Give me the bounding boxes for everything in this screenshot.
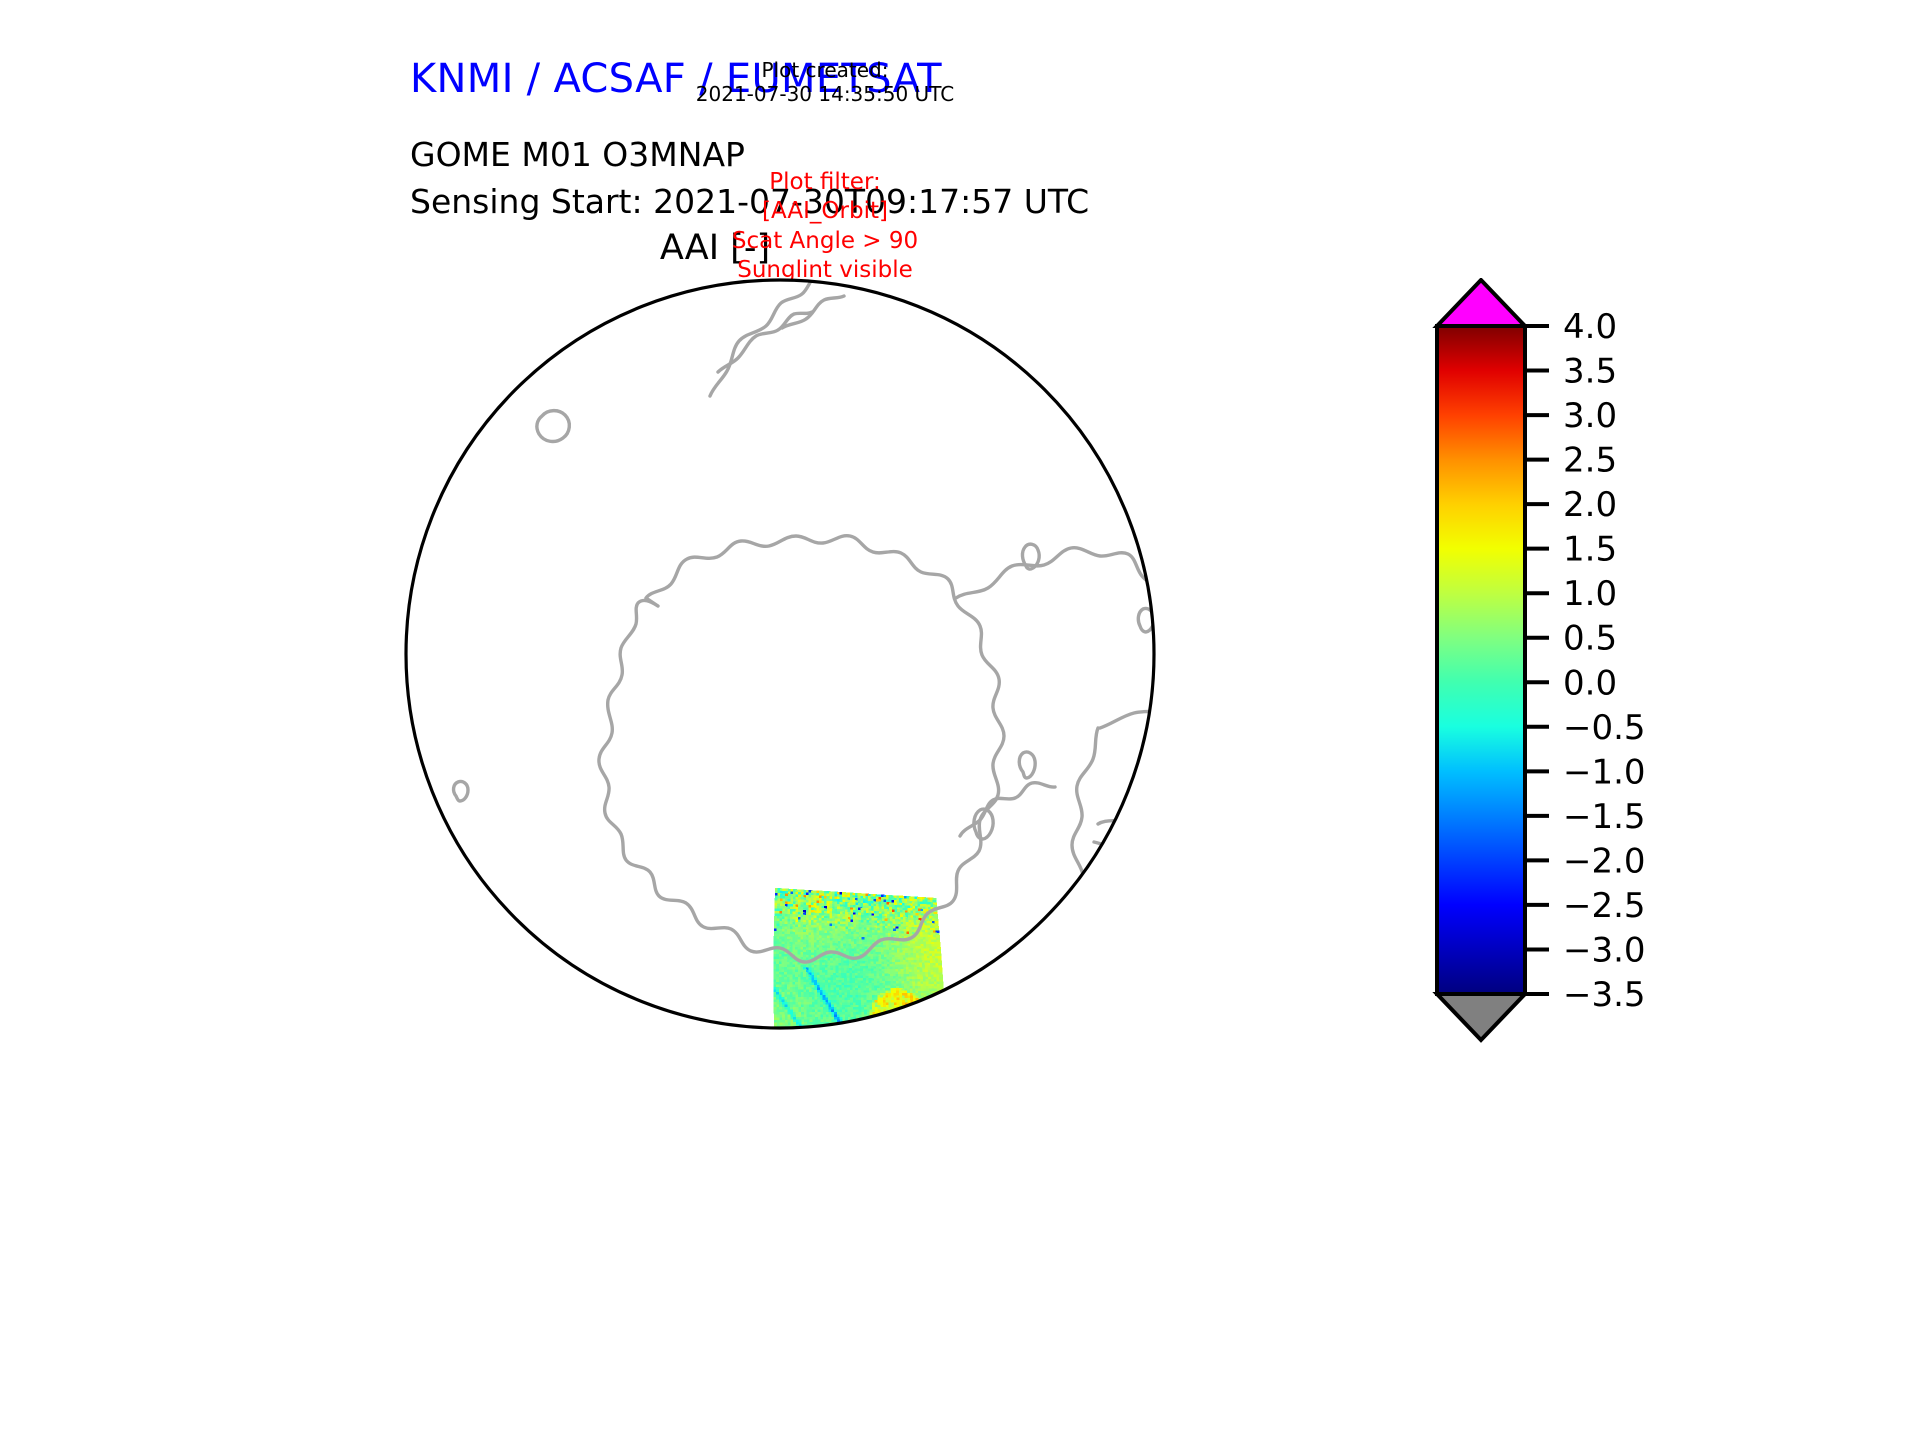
swath-pixel <box>860 1061 864 1065</box>
swath-pixel <box>865 1053 869 1057</box>
swath-pixel <box>903 1017 907 1021</box>
swath-pixel <box>835 1042 839 1046</box>
swath-pixel <box>941 1012 945 1016</box>
swath-pixel <box>813 1052 817 1056</box>
swath-pixel <box>849 1051 853 1055</box>
swath-pixel <box>907 1057 911 1061</box>
swath-pixel <box>920 1033 924 1037</box>
swath-pixel <box>846 1044 850 1048</box>
swath-pixel <box>893 1057 897 1061</box>
swath-pixel <box>810 1045 814 1049</box>
swath-pixel <box>919 1019 923 1023</box>
swath-pixel <box>920 1050 924 1053</box>
swath-pixel <box>928 1057 932 1060</box>
swath-pixel <box>840 1034 844 1038</box>
swath-pixel <box>936 1047 940 1050</box>
swath-pixel <box>819 1057 823 1061</box>
swath-pixel <box>931 1056 935 1059</box>
swath-pixel <box>838 1044 842 1048</box>
swath-pixel <box>851 1024 855 1028</box>
swath-pixel <box>901 1064 905 1066</box>
swath-pixel <box>920 1064 924 1066</box>
swath-pixel <box>871 1065 875 1066</box>
swath-pixel <box>912 1040 916 1044</box>
swath-pixel <box>865 1039 869 1043</box>
swath-pixel <box>821 1027 825 1031</box>
swath-pixel <box>824 1034 828 1038</box>
swath-pixel <box>776 1060 780 1064</box>
swath-pixel <box>825 1064 829 1066</box>
swath-pixel <box>936 1040 940 1043</box>
swath-pixel <box>914 1040 918 1044</box>
plot-filter-block: Plot filter: [AAI_Orbit] Scat Angle > 90… <box>660 168 990 286</box>
swath-pixel <box>795 1057 799 1061</box>
swath-pixel <box>851 1041 855 1045</box>
swath-pixel <box>887 1026 891 1030</box>
swath-pixel <box>813 1049 817 1053</box>
swath-pixel <box>791 1040 795 1044</box>
swath-pixel <box>862 1036 866 1040</box>
swath-pixel <box>939 1045 943 1048</box>
swath-pixel <box>927 1014 931 1018</box>
swath-pixel <box>867 1019 871 1023</box>
swath-pixel <box>928 1028 932 1032</box>
swath-pixel <box>869 1065 873 1066</box>
swath-pixel <box>898 1045 902 1049</box>
swath-pixel <box>802 1047 806 1051</box>
swath-pixel <box>871 1048 875 1052</box>
swath-pixel <box>786 1050 790 1054</box>
swath-pixel <box>942 1061 946 1064</box>
swath-pixel <box>890 1053 894 1057</box>
swath-pixel <box>851 1027 855 1031</box>
swath-pixel <box>811 1062 815 1066</box>
swath-pixel <box>866 1063 870 1066</box>
swath-pixel <box>915 1062 919 1065</box>
swath-pixel <box>862 1034 866 1038</box>
swath-pixel <box>895 1045 899 1049</box>
swath-pixel <box>890 1036 894 1040</box>
swath-pixel <box>923 1045 927 1049</box>
swath-pixel <box>843 1029 847 1033</box>
swath-pixel <box>930 1014 934 1018</box>
swath-pixel <box>938 1005 942 1009</box>
swath-pixel <box>774 1035 778 1039</box>
swath-pixel <box>904 1055 908 1059</box>
swath-pixel <box>830 1057 834 1061</box>
swath-pixel <box>917 1024 921 1028</box>
swath-pixel <box>871 1041 875 1045</box>
swath-pixel <box>890 1043 894 1047</box>
swath-pixel <box>939 1059 943 1062</box>
swath-pixel <box>855 1061 859 1065</box>
swath-pixel <box>917 1021 921 1025</box>
swath-pixel <box>833 1061 837 1065</box>
swath-pixel <box>852 1049 856 1053</box>
swath-pixel <box>881 1024 885 1028</box>
swath-pixel <box>892 1031 896 1035</box>
swath-pixel <box>780 1045 784 1049</box>
swath-pixel <box>808 1055 812 1059</box>
swath-pixel <box>903 1014 907 1018</box>
swath-pixel <box>876 1031 880 1035</box>
swath-pixel <box>855 1054 859 1058</box>
swath-pixel <box>806 1065 810 1066</box>
swath-pixel <box>904 1057 908 1061</box>
swath-pixel <box>819 1064 823 1066</box>
swath-pixel <box>904 1060 908 1064</box>
swath-pixel <box>887 1043 891 1047</box>
swath-pixel <box>780 1030 784 1034</box>
swath-pixel <box>789 1047 793 1051</box>
swath-pixel <box>843 1032 847 1036</box>
swath-pixel <box>865 1048 869 1052</box>
swath-pixel <box>887 1034 891 1038</box>
swath-pixel <box>835 1056 839 1060</box>
swath-pixel <box>783 1037 787 1041</box>
swath-pixel <box>780 1037 784 1041</box>
swath-pixel <box>774 1030 778 1034</box>
swath-pixel <box>871 1046 875 1050</box>
swath-pixel <box>922 1026 926 1030</box>
swath-pixel <box>815 1032 819 1036</box>
swath-pixel <box>876 1048 880 1052</box>
swath-pixel <box>859 1032 863 1036</box>
swath-pixel <box>859 1022 863 1026</box>
swath-pixel <box>897 1017 901 1021</box>
swath-pixel <box>883 1014 887 1018</box>
swath-pixel <box>776 1063 780 1066</box>
swath-pixel <box>928 1026 932 1030</box>
swath-pixel <box>893 1053 897 1057</box>
swath-pixel <box>893 1043 897 1047</box>
swath-pixel <box>870 1027 874 1031</box>
swath-pixel <box>923 1061 927 1064</box>
swath-pixel <box>915 1064 919 1066</box>
swath-pixel <box>908 1010 912 1014</box>
swath-pixel <box>921 1005 925 1009</box>
swath-pixel <box>900 1026 904 1030</box>
swath-pixel <box>817 1064 821 1066</box>
aai-swath[interactable] <box>773 888 946 1066</box>
swath-pixel <box>811 1050 815 1054</box>
swath-pixel <box>936 1014 940 1018</box>
swath-pixel <box>852 1054 856 1058</box>
swath-pixel <box>939 1054 943 1057</box>
swath-pixel <box>866 1056 870 1060</box>
swath-pixel <box>838 1049 842 1053</box>
swath-pixel <box>936 1049 940 1052</box>
swath-pixel <box>887 1053 891 1057</box>
swath-pixel <box>835 1049 839 1053</box>
swath-pixel <box>846 1056 850 1060</box>
swath-pixel <box>810 1042 814 1046</box>
swath-pixel <box>863 1046 867 1050</box>
swath-pixel <box>789 1050 793 1054</box>
swath-pixel <box>909 1043 913 1047</box>
swath-pixel <box>802 1037 806 1041</box>
swath-pixel <box>905 1017 909 1021</box>
swath-pixel <box>836 1064 840 1066</box>
swath-pixel <box>925 1028 929 1032</box>
swath-pixel <box>892 1029 896 1033</box>
swath-pixel <box>835 1034 839 1038</box>
swath-pixel <box>832 1034 836 1038</box>
swath-pixel <box>911 1026 915 1030</box>
swath-pixel <box>854 1044 858 1048</box>
swath-pixel <box>860 1056 864 1060</box>
swath-pixel <box>780 1032 784 1036</box>
swath-pixel <box>936 1028 940 1032</box>
swath-pixel <box>789 1060 793 1064</box>
swath-pixel <box>848 1024 852 1028</box>
swath-pixel <box>898 1029 902 1033</box>
swath-pixel <box>854 1036 858 1040</box>
swath-pixel <box>783 1030 787 1034</box>
swath-pixel <box>849 1063 853 1066</box>
swath-pixel <box>911 1024 915 1028</box>
swath-pixel <box>792 1057 796 1061</box>
swath-pixel <box>903 1029 907 1033</box>
swath-pixel <box>887 1038 891 1042</box>
swath-pixel <box>800 1062 804 1066</box>
swath-pixel <box>898 1033 902 1037</box>
swath-pixel <box>919 1010 923 1014</box>
swath-pixel <box>862 1041 866 1045</box>
swath-pixel <box>873 1036 877 1040</box>
swath-pixel <box>885 1053 889 1057</box>
swath-pixel <box>778 1050 782 1054</box>
plot-created-label: Plot created: <box>660 58 990 82</box>
swath-pixel <box>868 1041 872 1045</box>
swath-pixel <box>887 1060 891 1064</box>
swath-pixel <box>909 1064 913 1066</box>
swath-pixel <box>884 1031 888 1035</box>
swath-pixel <box>909 1057 913 1061</box>
swath-pixel <box>774 1032 778 1036</box>
swath-pixel <box>786 1042 790 1046</box>
swath-pixel <box>881 1036 885 1040</box>
swath-pixel <box>916 1005 920 1009</box>
swath-pixel <box>871 1051 875 1055</box>
swath-pixel <box>824 1052 828 1056</box>
swath-pixel <box>934 1061 938 1064</box>
swath-pixel <box>805 1040 809 1044</box>
swath-pixel <box>786 1037 790 1041</box>
swath-pixel <box>924 1012 928 1016</box>
swath-pixel <box>911 1010 915 1014</box>
swath-pixel <box>818 1032 822 1036</box>
swath-pixel <box>900 1024 904 1028</box>
swath-pixel <box>851 1039 855 1043</box>
swath-pixel <box>927 1019 931 1023</box>
swath-pixel <box>888 1065 892 1066</box>
swath-pixel <box>780 1048 784 1052</box>
swath-pixel <box>788 1030 792 1034</box>
swath-pixel <box>873 1027 877 1031</box>
swath-pixel <box>788 1037 792 1041</box>
swath-pixel <box>802 1050 806 1054</box>
swath-pixel <box>915 1050 919 1054</box>
swath-pixel <box>775 1055 779 1059</box>
plot-filter-label: Plot filter: <box>660 168 990 197</box>
swath-pixel <box>914 1017 918 1021</box>
swath-pixel <box>781 1055 785 1059</box>
swath-pixel <box>898 1048 902 1052</box>
swath-pixel <box>916 1014 920 1018</box>
swath-pixel <box>936 1038 940 1041</box>
swath-pixel <box>856 1027 860 1031</box>
swath-pixel <box>914 1043 918 1047</box>
swath-pixel <box>931 1059 935 1062</box>
swath-pixel <box>922 1021 926 1025</box>
swath-pixel <box>792 1062 796 1066</box>
swath-pixel <box>780 1043 784 1047</box>
swath-pixel <box>879 1034 883 1038</box>
swath-pixel <box>940 1000 944 1004</box>
swath-pixel <box>923 1064 927 1066</box>
swath-pixel <box>783 1042 787 1046</box>
swath-pixel <box>928 1050 932 1053</box>
swath-pixel <box>783 1035 787 1039</box>
swath-pixel <box>884 1043 888 1047</box>
swath-pixel <box>927 1003 931 1007</box>
swath-pixel <box>931 1064 935 1066</box>
swath-pixel <box>846 1059 850 1063</box>
swath-pixel <box>830 1042 834 1046</box>
swath-pixel <box>777 1040 781 1044</box>
swath-pixel <box>876 1043 880 1047</box>
swath-pixel <box>906 1019 910 1023</box>
swath-pixel <box>892 1041 896 1045</box>
swath-pixel <box>904 1064 908 1066</box>
swath-pixel <box>925 1021 929 1025</box>
swath-pixel <box>903 1019 907 1023</box>
swath-pixel <box>791 1037 795 1041</box>
swath-pixel <box>911 1017 915 1021</box>
swath-pixel <box>916 1007 920 1011</box>
swath-pixel <box>942 1038 946 1041</box>
swath-pixel <box>832 1027 836 1031</box>
swath-pixel <box>802 1032 806 1036</box>
swath-pixel <box>884 1048 888 1052</box>
swath-pixel <box>916 1017 920 1021</box>
swath-pixel <box>836 1059 840 1063</box>
swath-pixel <box>824 1044 828 1048</box>
swath-pixel <box>882 1053 886 1057</box>
swath-pixel <box>906 1043 910 1047</box>
swath-pixel <box>901 1055 905 1059</box>
swath-pixel <box>895 1050 899 1054</box>
swath-pixel <box>835 1047 839 1051</box>
swath-pixel <box>824 1037 828 1041</box>
swath-pixel <box>898 1036 902 1040</box>
swath-pixel <box>840 1024 844 1028</box>
swath-pixel <box>865 1027 869 1031</box>
swath-pixel <box>829 1027 833 1031</box>
swath-pixel <box>817 1062 821 1066</box>
swath-pixel <box>873 1029 877 1033</box>
swath-pixel <box>897 1024 901 1028</box>
swath-pixel <box>802 1042 806 1046</box>
swath-pixel <box>927 1017 931 1021</box>
swath-pixel <box>898 1041 902 1045</box>
swath-pixel <box>844 1061 848 1065</box>
swath-pixel <box>849 1061 853 1065</box>
swath-pixel <box>851 1032 855 1036</box>
swath-pixel <box>921 1003 925 1007</box>
swath-pixel <box>909 1040 913 1044</box>
swath-pixel <box>890 1046 894 1050</box>
swath-pixel <box>923 1043 927 1047</box>
swath-pixel <box>841 1051 845 1055</box>
swath-pixel <box>788 1032 792 1036</box>
swath-pixel <box>826 1032 830 1036</box>
plot-filter-name: [AAI_Orbit] <box>660 197 990 226</box>
swath-pixel <box>873 1031 877 1035</box>
swath-pixel <box>931 1035 935 1039</box>
swath-pixel <box>863 1056 867 1060</box>
swath-pixel <box>917 1036 921 1040</box>
swath-pixel <box>789 1065 793 1066</box>
polar-map[interactable] <box>400 276 1180 1066</box>
swath-pixel <box>890 1065 894 1066</box>
swath-pixel <box>840 1037 844 1041</box>
swath-pixel <box>895 1024 899 1028</box>
swath-pixel <box>781 1065 785 1066</box>
swath-pixel <box>942 1042 946 1045</box>
swath-pixel <box>808 1045 812 1049</box>
swath-pixel <box>855 1063 859 1066</box>
swath-pixel <box>870 1022 874 1026</box>
swath-pixel <box>939 1031 943 1035</box>
swath-pixel <box>876 1041 880 1045</box>
swath-pixel <box>887 1046 891 1050</box>
swath-pixel <box>919 1021 923 1025</box>
swath-pixel <box>925 1045 929 1048</box>
swath-pixel <box>860 1058 864 1062</box>
swath-pixel <box>877 1065 881 1066</box>
swath-pixel <box>942 1047 946 1050</box>
swath-pixel <box>796 1032 800 1036</box>
swath-pixel <box>936 1019 940 1023</box>
swath-pixel <box>871 1053 875 1057</box>
swath-pixel <box>841 1059 845 1063</box>
swath-pixel <box>864 1022 868 1026</box>
swath-pixel <box>878 1031 882 1035</box>
swath-pixel <box>863 1063 867 1066</box>
swath-pixel <box>928 1040 932 1044</box>
swath-pixel <box>876 1029 880 1033</box>
swath-pixel <box>873 1019 877 1023</box>
swath-pixel <box>865 1024 869 1028</box>
swath-pixel <box>922 1024 926 1028</box>
swath-pixel <box>935 1007 939 1011</box>
swath-pixel <box>819 1052 823 1056</box>
swath-pixel <box>917 1043 921 1047</box>
swath-pixel <box>884 1041 888 1045</box>
swath-pixel <box>941 1026 945 1030</box>
swath-pixel <box>911 1033 915 1037</box>
swath-pixel <box>833 1064 837 1066</box>
map-panel[interactable] <box>400 276 1180 1066</box>
swath-pixel <box>874 1053 878 1057</box>
swath-pixel <box>868 1048 872 1052</box>
swath-pixel <box>917 1029 921 1033</box>
swath-pixel <box>886 1024 890 1028</box>
swath-pixel <box>784 1063 788 1066</box>
swath-pixel <box>895 1036 899 1040</box>
